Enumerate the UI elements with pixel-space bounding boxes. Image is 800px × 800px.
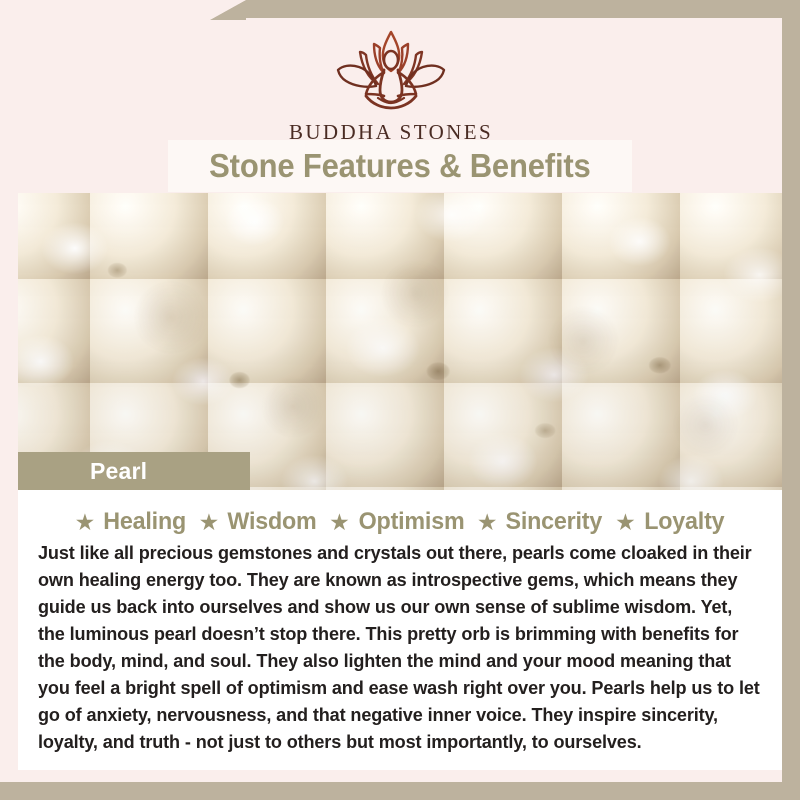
stone-name-bar: Pearl (18, 452, 250, 490)
pearl-pits-layer (18, 193, 782, 490)
stone-name-label: Pearl (90, 458, 147, 485)
lotus-meditation-icon (316, 26, 466, 118)
star-icon: ★ (329, 511, 350, 534)
content-panel: ★ Healing ★ Wisdom ★ Optimism ★ Sincerit… (18, 490, 782, 770)
star-icon: ★ (615, 511, 636, 534)
benefit-keyword-label: Wisdom (228, 508, 317, 536)
benefit-keyword-label: Sincerity (506, 508, 603, 536)
stone-benefits-infographic: BUDDHA STONES Stone Features & Benefits … (0, 0, 800, 800)
stone-description: Just like all precious gemstones and cry… (38, 540, 762, 756)
benefit-keyword-optimism: ★ Optimism (329, 508, 466, 536)
bottom-pink-strip (18, 770, 782, 782)
benefit-keyword-row: ★ Healing ★ Wisdom ★ Optimism ★ Sincerit… (38, 508, 762, 536)
benefit-keyword-label: Healing (104, 508, 187, 536)
benefit-keyword-healing: ★ Healing (75, 508, 188, 536)
page-title: Stone Features & Benefits (209, 147, 590, 185)
benefit-keyword-sincerity: ★ Sincerity (477, 508, 604, 536)
benefit-keyword-wisdom: ★ Wisdom (199, 508, 319, 536)
star-icon: ★ (75, 511, 96, 534)
corner-diagonal-accent (210, 0, 246, 20)
star-icon: ★ (477, 511, 498, 534)
benefit-keyword-label: Loyalty (644, 508, 724, 536)
benefit-keyword-label: Optimism (358, 508, 464, 536)
title-banner: Stone Features & Benefits (168, 140, 632, 192)
pearl-gemstones-photo (18, 193, 782, 490)
page-card-top-left (0, 0, 222, 20)
star-icon: ★ (199, 511, 220, 534)
benefit-keyword-loyalty: ★ Loyalty (615, 508, 725, 536)
